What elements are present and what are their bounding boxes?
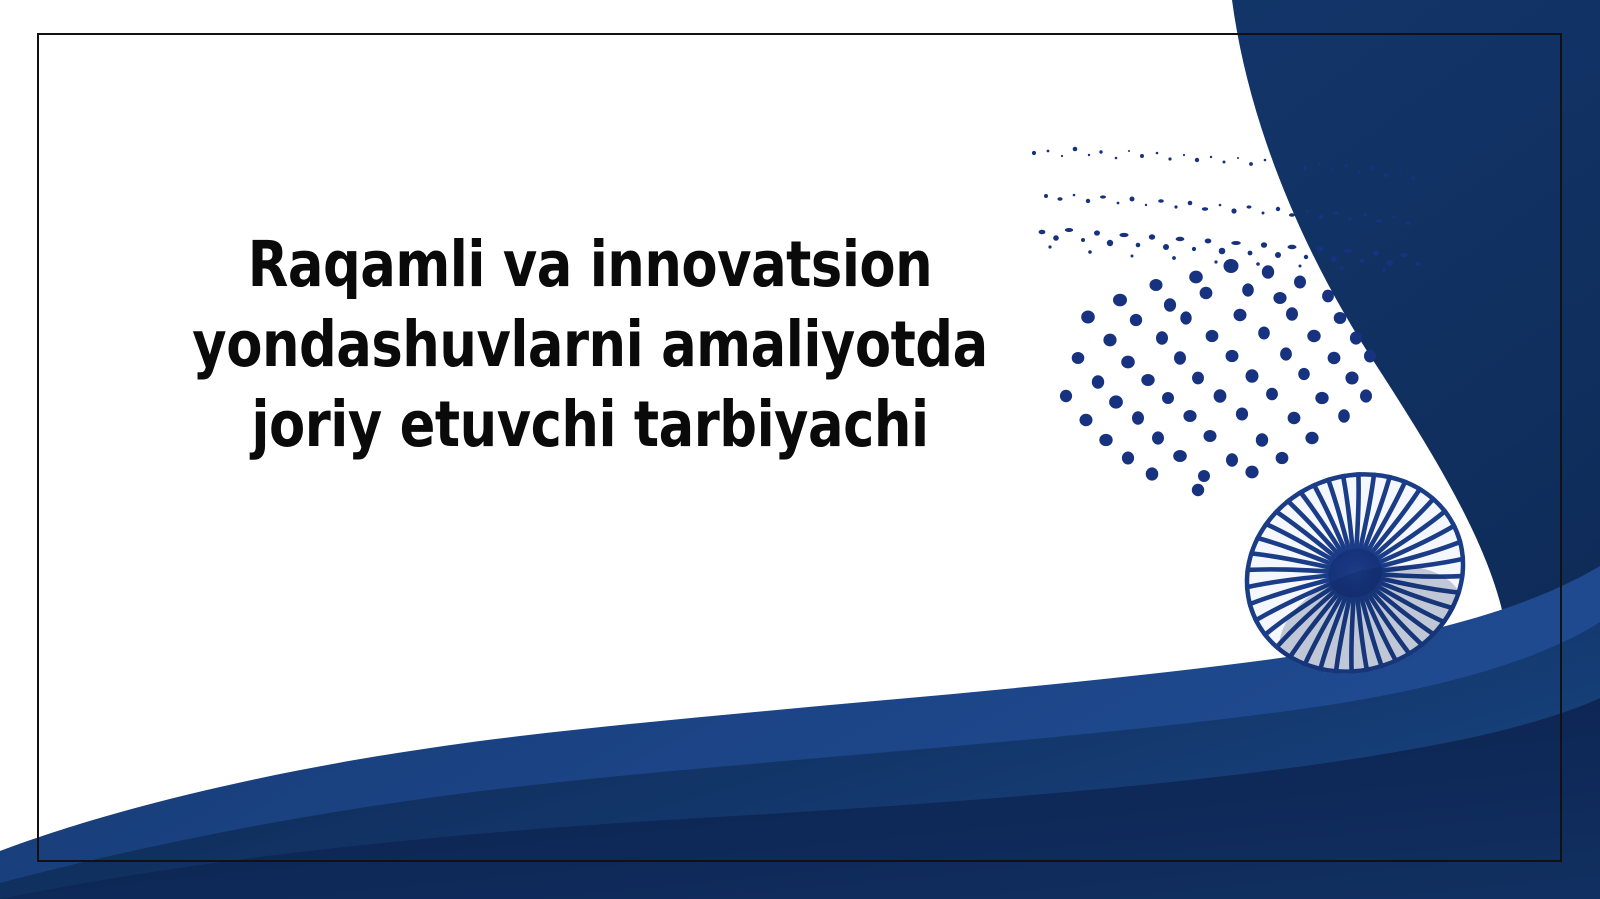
- slide-title: Raqamli va innovatsion yondashuvlarni am…: [153, 225, 1027, 465]
- title-block: Raqamli va innovatsion yondashuvlarni am…: [120, 225, 1060, 465]
- presentation-slide: Raqamli va innovatsion yondashuvlarni am…: [0, 0, 1600, 899]
